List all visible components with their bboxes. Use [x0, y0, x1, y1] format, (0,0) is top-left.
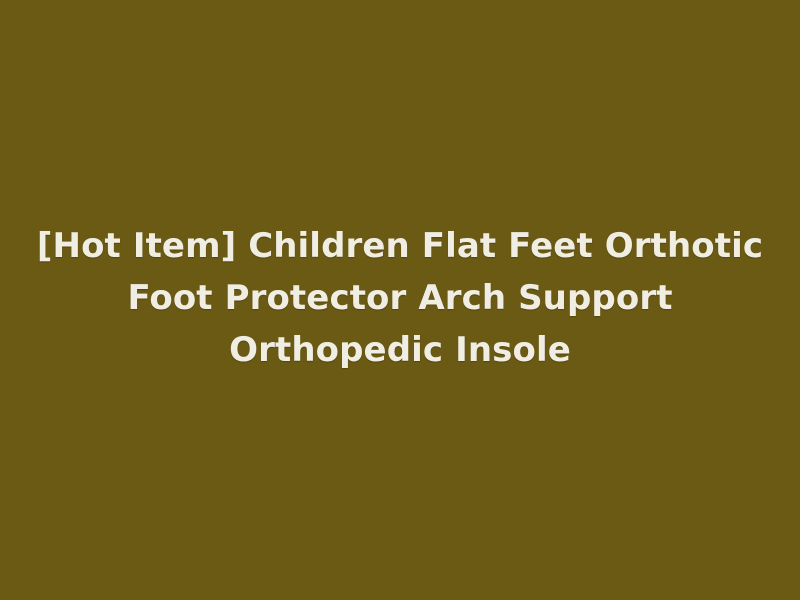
product-title-card: [Hot Item] Children Flat Feet Orthotic F… [0, 0, 800, 600]
page-title-line-2: Foot Protector Arch Support [24, 272, 776, 324]
page-title: [Hot Item] Children Flat Feet Orthotic F… [0, 220, 800, 376]
page-title-line-3: Orthopedic Insole [24, 324, 776, 376]
page-title-line-1: [Hot Item] Children Flat Feet Orthotic [24, 220, 776, 272]
